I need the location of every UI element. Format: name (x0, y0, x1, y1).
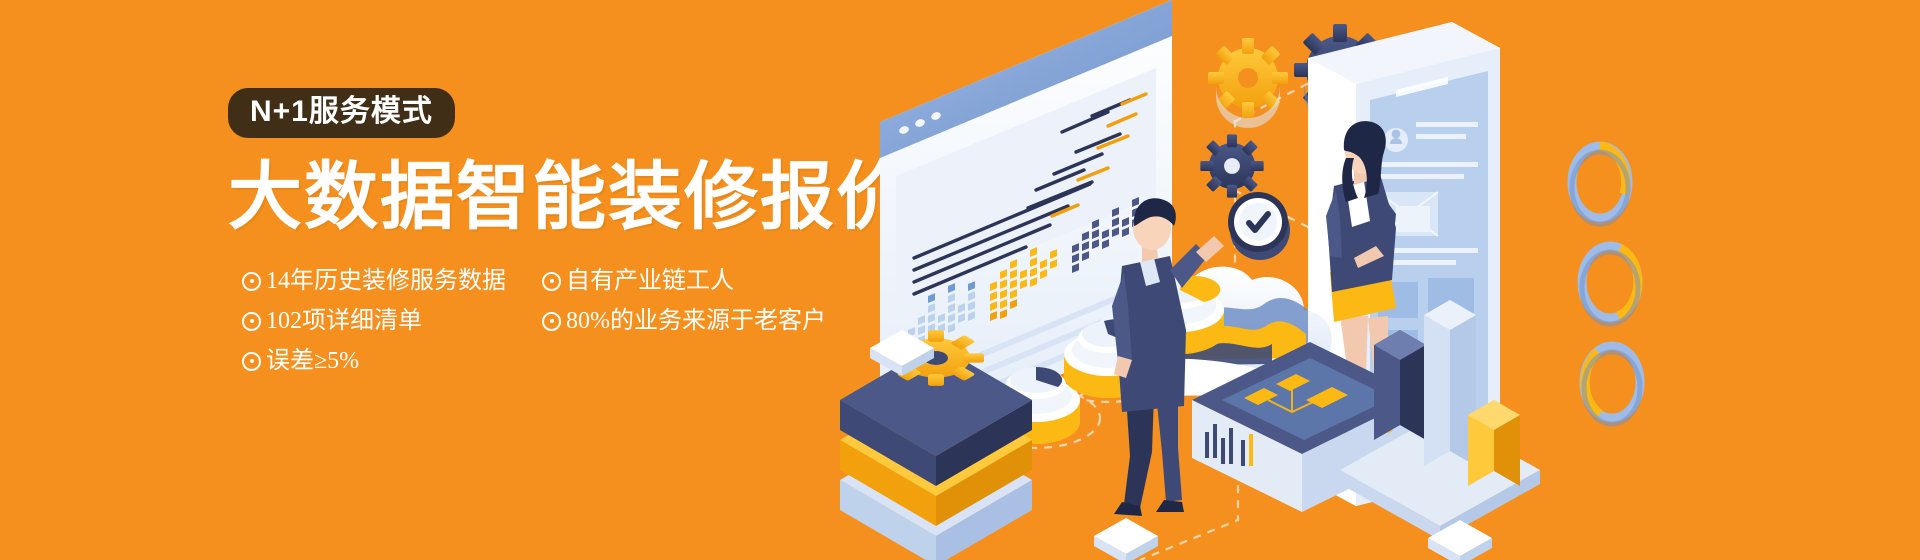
bullet-label: 误差≥5% (266, 349, 359, 373)
bullet-label: 80%的业务来源于老客户 (566, 309, 826, 333)
promo-banner: N+1服务模式 大数据智能装修报价 14年历史装修服务数据 102项详细清单 误… (0, 0, 1920, 560)
feature-bullet-list: 14年历史装修服务数据 102项详细清单 误差≥5% 自有产业链工人 80%的业… (242, 261, 882, 381)
bullet-label: 102项详细清单 (266, 309, 422, 333)
circle-dot-icon (242, 352, 261, 371)
circle-dot-icon (242, 272, 261, 291)
list-item: 14年历史装修服务数据 (242, 269, 542, 293)
list-item: 误差≥5% (242, 349, 542, 373)
bullet-label: 自有产业链工人 (566, 269, 734, 293)
gear-navy-small (1200, 134, 1263, 197)
isometric-data-analytics-illustration (840, 0, 1920, 560)
bullet-label: 14年历史装修服务数据 (266, 269, 506, 293)
list-item: 自有产业链工人 (542, 269, 842, 293)
list-item: 80%的业务来源于老客户 (542, 309, 842, 333)
service-model-badge: N+1服务模式 (228, 88, 455, 138)
circle-dot-icon (242, 312, 261, 331)
circle-dot-icon (542, 272, 561, 291)
donut-ring-chart (1572, 146, 1640, 424)
circle-dot-icon (542, 312, 561, 331)
list-item: 102项详细清单 (242, 309, 542, 333)
